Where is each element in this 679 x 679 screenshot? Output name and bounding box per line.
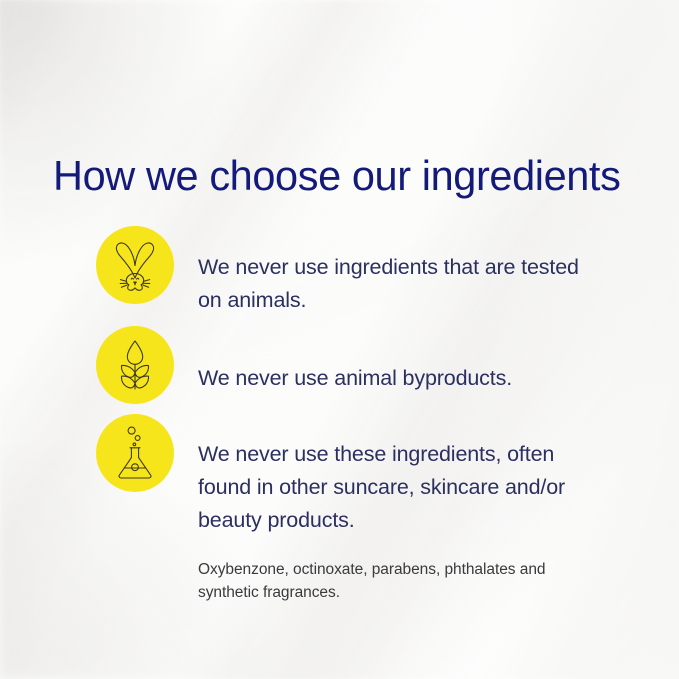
feature-text-no-byproducts: We never use animal byproducts.	[198, 326, 512, 416]
icon-badge-flask	[96, 414, 174, 492]
feature-text-no-chemicals: We never use these ingredients, often fo…	[198, 414, 598, 620]
feature-item-no-chemicals: We never use these ingredients, often fo…	[96, 414, 598, 620]
bunny-cruelty-free-icon	[111, 239, 159, 291]
plant-leaf-icon	[113, 339, 157, 391]
flask-chemical-icon	[113, 426, 157, 480]
feature-text-cruelty-free: We never use ingredients that are tested…	[198, 226, 598, 338]
feature-note-ingredient-list: Oxybenzone, octinoxate, parabens, phthal…	[198, 558, 570, 604]
feature-item-no-byproducts: We never use animal byproducts.	[96, 326, 512, 416]
feature-body: We never use ingredients that are tested…	[198, 251, 598, 317]
icon-badge-cruelty-free	[96, 226, 174, 304]
infographic-canvas: How we choose our ingredients	[0, 0, 679, 679]
feature-body: We never use these ingredients, often fo…	[198, 438, 598, 537]
icon-badge-plant	[96, 326, 174, 404]
feature-body: We never use animal byproducts.	[198, 362, 512, 395]
feature-item-cruelty-free: We never use ingredients that are tested…	[96, 226, 598, 338]
page-title: How we choose our ingredients	[53, 150, 620, 202]
